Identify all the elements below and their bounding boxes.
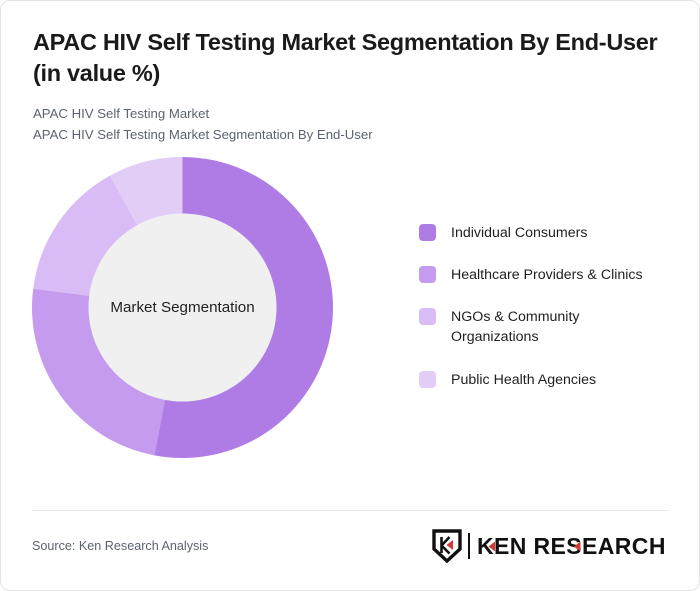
brand-logo: KEN RESEARCH — [432, 529, 675, 563]
legend-item-individual-consumers[interactable]: Individual Consumers — [419, 223, 677, 243]
ken-research-wordmark: KEN RESEARCH — [477, 533, 675, 560]
chart-body: Market Segmentation Individual Consumers… — [1, 145, 699, 485]
legend-swatch-icon — [419, 266, 436, 283]
legend-swatch-icon — [419, 224, 436, 241]
chart-header: APAC HIV Self Testing Market Segmentatio… — [1, 1, 699, 145]
ken-research-shield-icon — [432, 529, 462, 563]
chart-card: APAC HIV Self Testing Market Segmentatio… — [0, 0, 700, 591]
donut-chart: Market Segmentation — [32, 157, 333, 458]
subtitle-block: APAC HIV Self Testing Market APAC HIV Se… — [33, 104, 667, 145]
legend-item-label: Individual Consumers — [451, 223, 587, 243]
legend-item-ngos-community-organizations[interactable]: NGOs & Community Organizations — [419, 307, 677, 347]
chart-footer: Source: Ken Research Analysis KEN RESEAR… — [32, 529, 675, 563]
legend-item-public-health-agencies[interactable]: Public Health Agencies — [419, 370, 677, 390]
page-title: APAC HIV Self Testing Market Segmentatio… — [33, 27, 658, 88]
legend-swatch-icon — [419, 371, 436, 388]
subtitle-line-1: APAC HIV Self Testing Market — [33, 104, 667, 124]
legend-swatch-icon — [419, 308, 436, 325]
legend-item-healthcare-providers-clinics[interactable]: Healthcare Providers & Clinics — [419, 265, 677, 285]
brand-separator — [468, 533, 470, 559]
legend-item-label: Public Health Agencies — [451, 370, 596, 390]
footer-divider — [32, 510, 668, 511]
source-text: Source: Ken Research Analysis — [32, 539, 208, 553]
chart-legend: Individual Consumers Healthcare Provider… — [419, 223, 677, 390]
donut-hole — [89, 214, 277, 402]
legend-item-label: NGOs & Community Organizations — [451, 307, 663, 347]
legend-item-label: Healthcare Providers & Clinics — [451, 265, 643, 285]
svg-text:KEN RESEARCH: KEN RESEARCH — [477, 533, 666, 559]
donut-svg — [32, 157, 333, 458]
subtitle-line-2: APAC HIV Self Testing Market Segmentatio… — [33, 125, 667, 145]
